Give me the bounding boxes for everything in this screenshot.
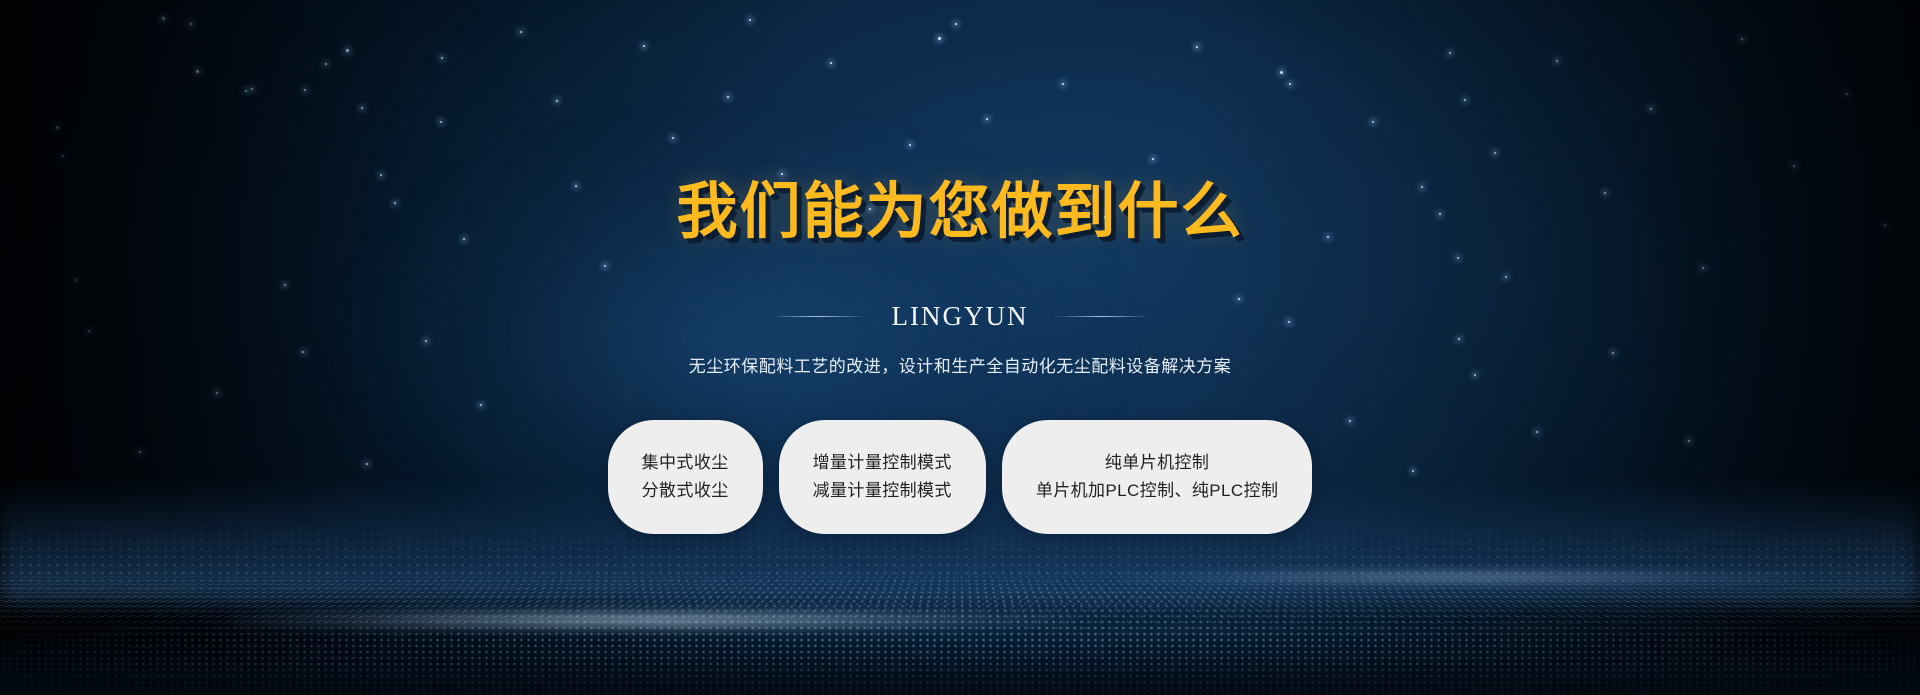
divider-left [770, 316, 866, 317]
feature-card-line-1: 集中式收尘 [642, 452, 729, 473]
feature-card[interactable]: 增量计量控制模式减量计量控制模式 [779, 420, 986, 534]
page-title: 我们能为您做到什么 [676, 181, 1243, 242]
feature-card-line-1: 纯单片机控制 [1105, 452, 1209, 473]
feature-card-line-2: 单片机加PLC控制、纯PLC控制 [1036, 480, 1279, 501]
hero-banner: 我们能为您做到什么 LINGYUN 无尘环保配料工艺的改进，设计和生产全自动化无… [0, 0, 1920, 695]
feature-card-list: 集中式收尘分散式收尘增量计量控制模式减量计量控制模式纯单片机控制单片机加PLC控… [608, 420, 1313, 534]
banner-content: 我们能为您做到什么 LINGYUN 无尘环保配料工艺的改进，设计和生产全自动化无… [0, 0, 1920, 695]
feature-card-line-2: 减量计量控制模式 [813, 480, 952, 501]
divider-right [1054, 316, 1150, 317]
feature-card[interactable]: 纯单片机控制单片机加PLC控制、纯PLC控制 [1002, 420, 1313, 534]
feature-card-line-1: 增量计量控制模式 [813, 452, 952, 473]
feature-card-line-2: 分散式收尘 [642, 480, 729, 501]
feature-card[interactable]: 集中式收尘分散式收尘 [608, 420, 763, 534]
banner-description: 无尘环保配料工艺的改进，设计和生产全自动化无尘配料设备解决方案 [689, 352, 1232, 377]
brand-subtitle-row: LINGYUN [770, 301, 1151, 332]
brand-name: LINGYUN [892, 301, 1029, 332]
